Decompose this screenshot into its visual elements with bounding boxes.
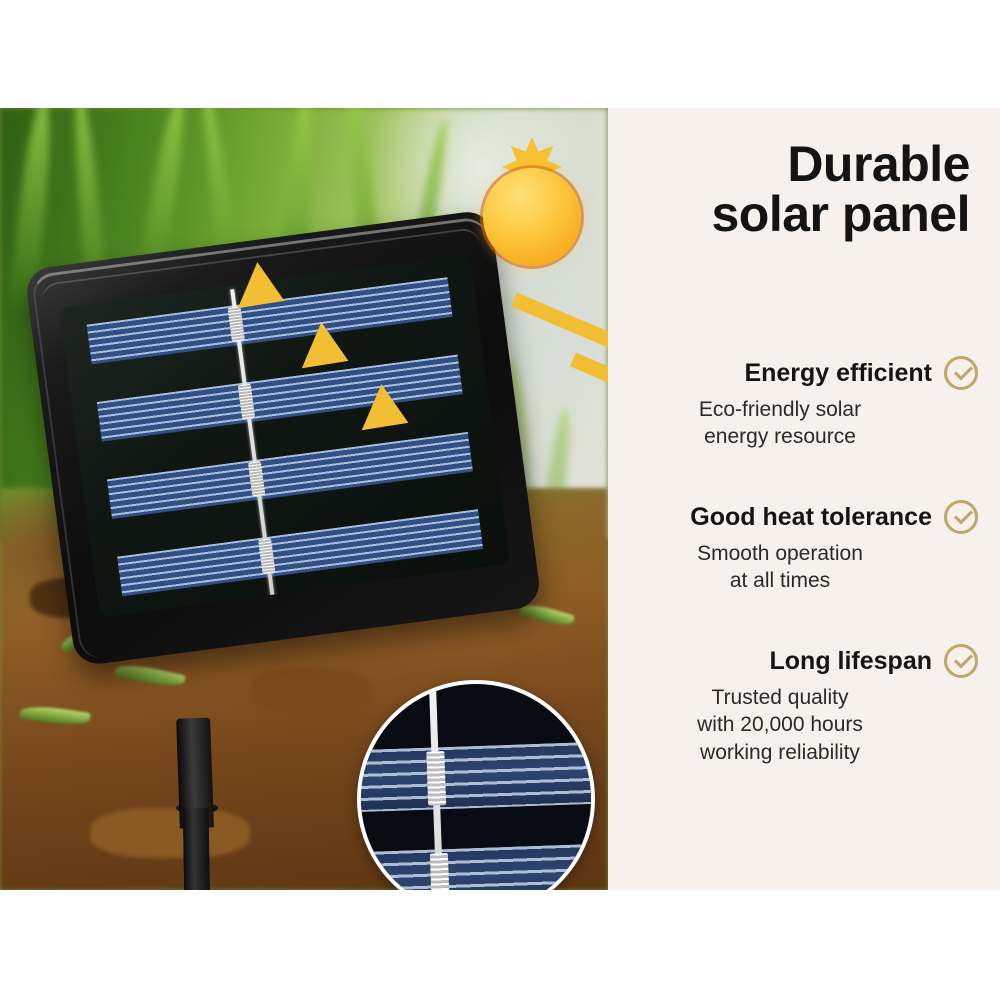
product-feature-image: Durable solar panel Energy efficient Eco… xyxy=(0,0,1000,1000)
check-circle-icon xyxy=(944,644,978,678)
feature-description-line: Eco-friendly solar xyxy=(628,396,932,423)
feature-heading: Good heat tolerance xyxy=(628,500,978,534)
check-circle-icon xyxy=(944,500,978,534)
feature-title: Long lifespan xyxy=(770,647,933,676)
panel-glass xyxy=(59,254,510,617)
feature-energy-efficient: Energy efficient Eco-friendly solar ener… xyxy=(628,356,978,451)
feature-description: Eco-friendly solar energy resource xyxy=(628,396,978,451)
feature-good-heat-tolerance: Good heat tolerance Smooth operation at … xyxy=(628,500,978,595)
magnified-detail-circle xyxy=(357,680,595,890)
sun-disc xyxy=(483,168,581,266)
feature-description-line: Smooth operation xyxy=(628,540,932,567)
headline-line-1: Durable xyxy=(630,140,970,190)
solar-cell-strip xyxy=(107,432,473,519)
feature-description-line: working reliability xyxy=(628,739,932,766)
soil-clump xyxy=(250,668,370,714)
soil-clump xyxy=(90,808,250,858)
sun-icon xyxy=(452,137,612,297)
page-title: Durable solar panel xyxy=(630,140,970,239)
feature-title: Energy efficient xyxy=(744,359,932,388)
feature-description: Smooth operation at all times xyxy=(628,540,978,595)
magnified-cell-strip xyxy=(357,741,595,813)
magnified-busbar-node xyxy=(430,853,450,890)
magnified-busbar-node xyxy=(426,751,446,806)
feature-panel: Durable solar panel Energy efficient Eco… xyxy=(608,108,1000,890)
feature-long-lifespan: Long lifespan Trusted quality with 20,00… xyxy=(628,644,978,766)
feature-description-line: at all times xyxy=(628,567,932,594)
feature-description-line: with 20,000 hours xyxy=(628,711,932,738)
feature-title: Good heat tolerance xyxy=(690,503,932,532)
feature-heading: Energy efficient xyxy=(628,356,978,390)
feature-description-line: Trusted quality xyxy=(628,684,932,711)
feature-description: Trusted quality with 20,000 hours workin… xyxy=(628,684,978,766)
check-circle-icon xyxy=(944,356,978,390)
headline-line-2: solar panel xyxy=(630,190,970,240)
ground-stake xyxy=(183,808,212,890)
feature-description-line: energy resource xyxy=(628,423,932,450)
magnified-cell-strip xyxy=(357,843,595,890)
feature-heading: Long lifespan xyxy=(628,644,978,678)
magnified-cell-view xyxy=(357,680,595,890)
